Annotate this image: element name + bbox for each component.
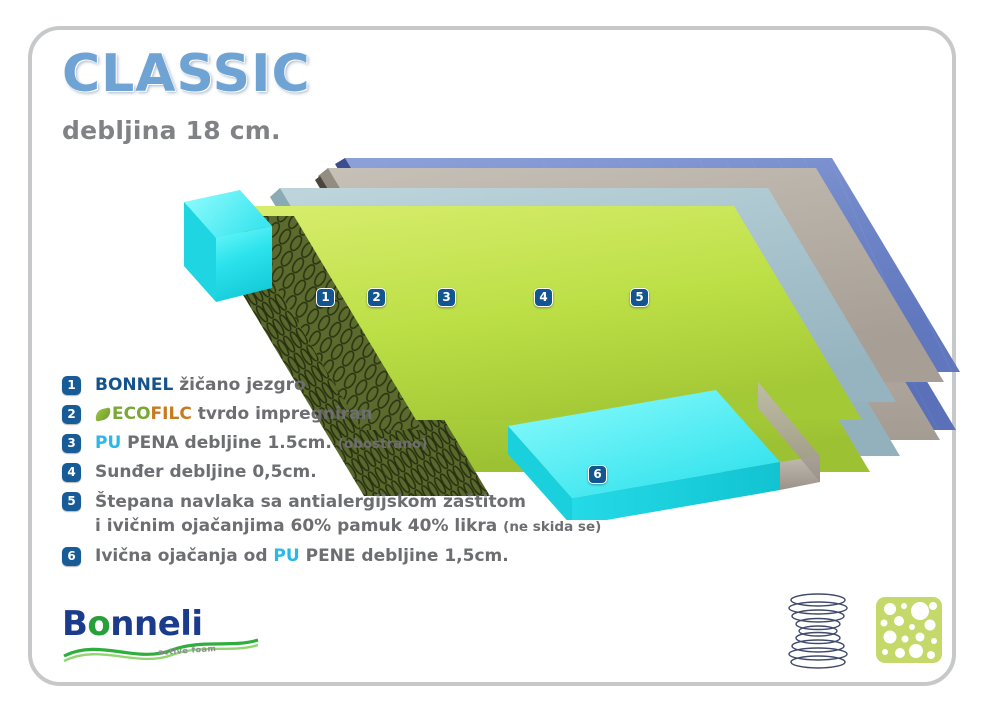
legend-text-6: Ivična ojačanja od PU PENE debljine 1,5c… <box>95 545 509 568</box>
legend-badge-4: 4 <box>62 463 81 482</box>
foam-bubbles-icon <box>876 597 942 663</box>
brand-name-after: nneli <box>110 604 202 644</box>
legend-item-6: 6 Ivična ojačanja od PU PENE debljine 1,… <box>62 545 682 568</box>
brand-name: Bonneli <box>62 604 272 644</box>
legend-text-4: Sunđer debljine 0,5cm. <box>95 461 317 484</box>
diagram-badge-1[interactable]: 1 <box>316 288 335 307</box>
legend-item-5: 5 Štepana navlaka sa antialergijskom zaš… <box>62 490 682 539</box>
legend-text-3: PU PENA debljine 1.5cm. (obostrano) <box>95 432 427 455</box>
legend-line-5b: i ivičnim ojačanjima 60% pamuk 40% likra <box>95 516 503 536</box>
legend-keyword-pu-3: PU <box>95 433 121 453</box>
leaf-icon <box>94 407 112 421</box>
legend-text-2: ECOFILC tvrdo impregniran <box>95 403 373 426</box>
legend-line-5a: Štepana navlaka sa antialergijskom zašti… <box>95 492 526 512</box>
brand-name-before: B <box>62 604 87 644</box>
legend-keyword-bonnel: BONNEL <box>95 375 173 395</box>
legend-badge-2: 2 <box>62 405 81 424</box>
legend-note-3: (obostrano) <box>338 436 428 452</box>
legend-rest-3: PENA debljine 1.5cm. <box>121 433 337 453</box>
legend-rest-2: tvrdo impregniran <box>192 404 373 424</box>
diagram-badge-5[interactable]: 5 <box>630 288 649 307</box>
diagram-badge-4[interactable]: 4 <box>534 288 553 307</box>
legend-pre-6: Ivična ojačanja od <box>95 546 273 566</box>
page-title: CLASSIC <box>62 48 311 100</box>
legend-item-3: 3 PU PENA debljine 1.5cm. (obostrano) <box>62 432 682 455</box>
legend-keyword-pu-6: PU <box>273 546 299 566</box>
legend-item-1: 1 BONNEL žičano jezgro <box>62 374 682 397</box>
legend-item-2: 2 ECOFILC tvrdo impregniran <box>62 403 682 426</box>
diagram-badge-2[interactable]: 2 <box>367 288 386 307</box>
legend-badge-5: 5 <box>62 492 81 511</box>
legend-keyword-eco: ECO <box>112 404 151 424</box>
brand-o-icon: o <box>87 604 110 644</box>
legend-badge-1: 1 <box>62 376 81 395</box>
legend-badge-3: 3 <box>62 434 81 453</box>
diagram-badge-3[interactable]: 3 <box>437 288 456 307</box>
legend-list: 1 BONNEL žičano jezgro 2 ECOFILC tvrdo i… <box>62 374 682 574</box>
legend-text-5: Štepana navlaka sa antialergijskom zašti… <box>95 490 601 539</box>
legend-text-1: BONNEL žičano jezgro <box>95 374 306 397</box>
legend-item-4: 4 Sunđer debljine 0,5cm. <box>62 461 682 484</box>
footer-icons <box>782 590 942 670</box>
legend-keyword-filc: FILC <box>151 404 192 424</box>
legend-note-5: (ne skida se) <box>503 519 601 535</box>
legend-badge-6: 6 <box>62 547 81 566</box>
brand-logo: Bonneli active foam <box>62 604 272 666</box>
legend-rest-1: žičano jezgro <box>173 375 305 395</box>
legend-rest-6: PENE debljine 1,5cm. <box>300 546 509 566</box>
spring-coil-icon <box>782 590 854 670</box>
